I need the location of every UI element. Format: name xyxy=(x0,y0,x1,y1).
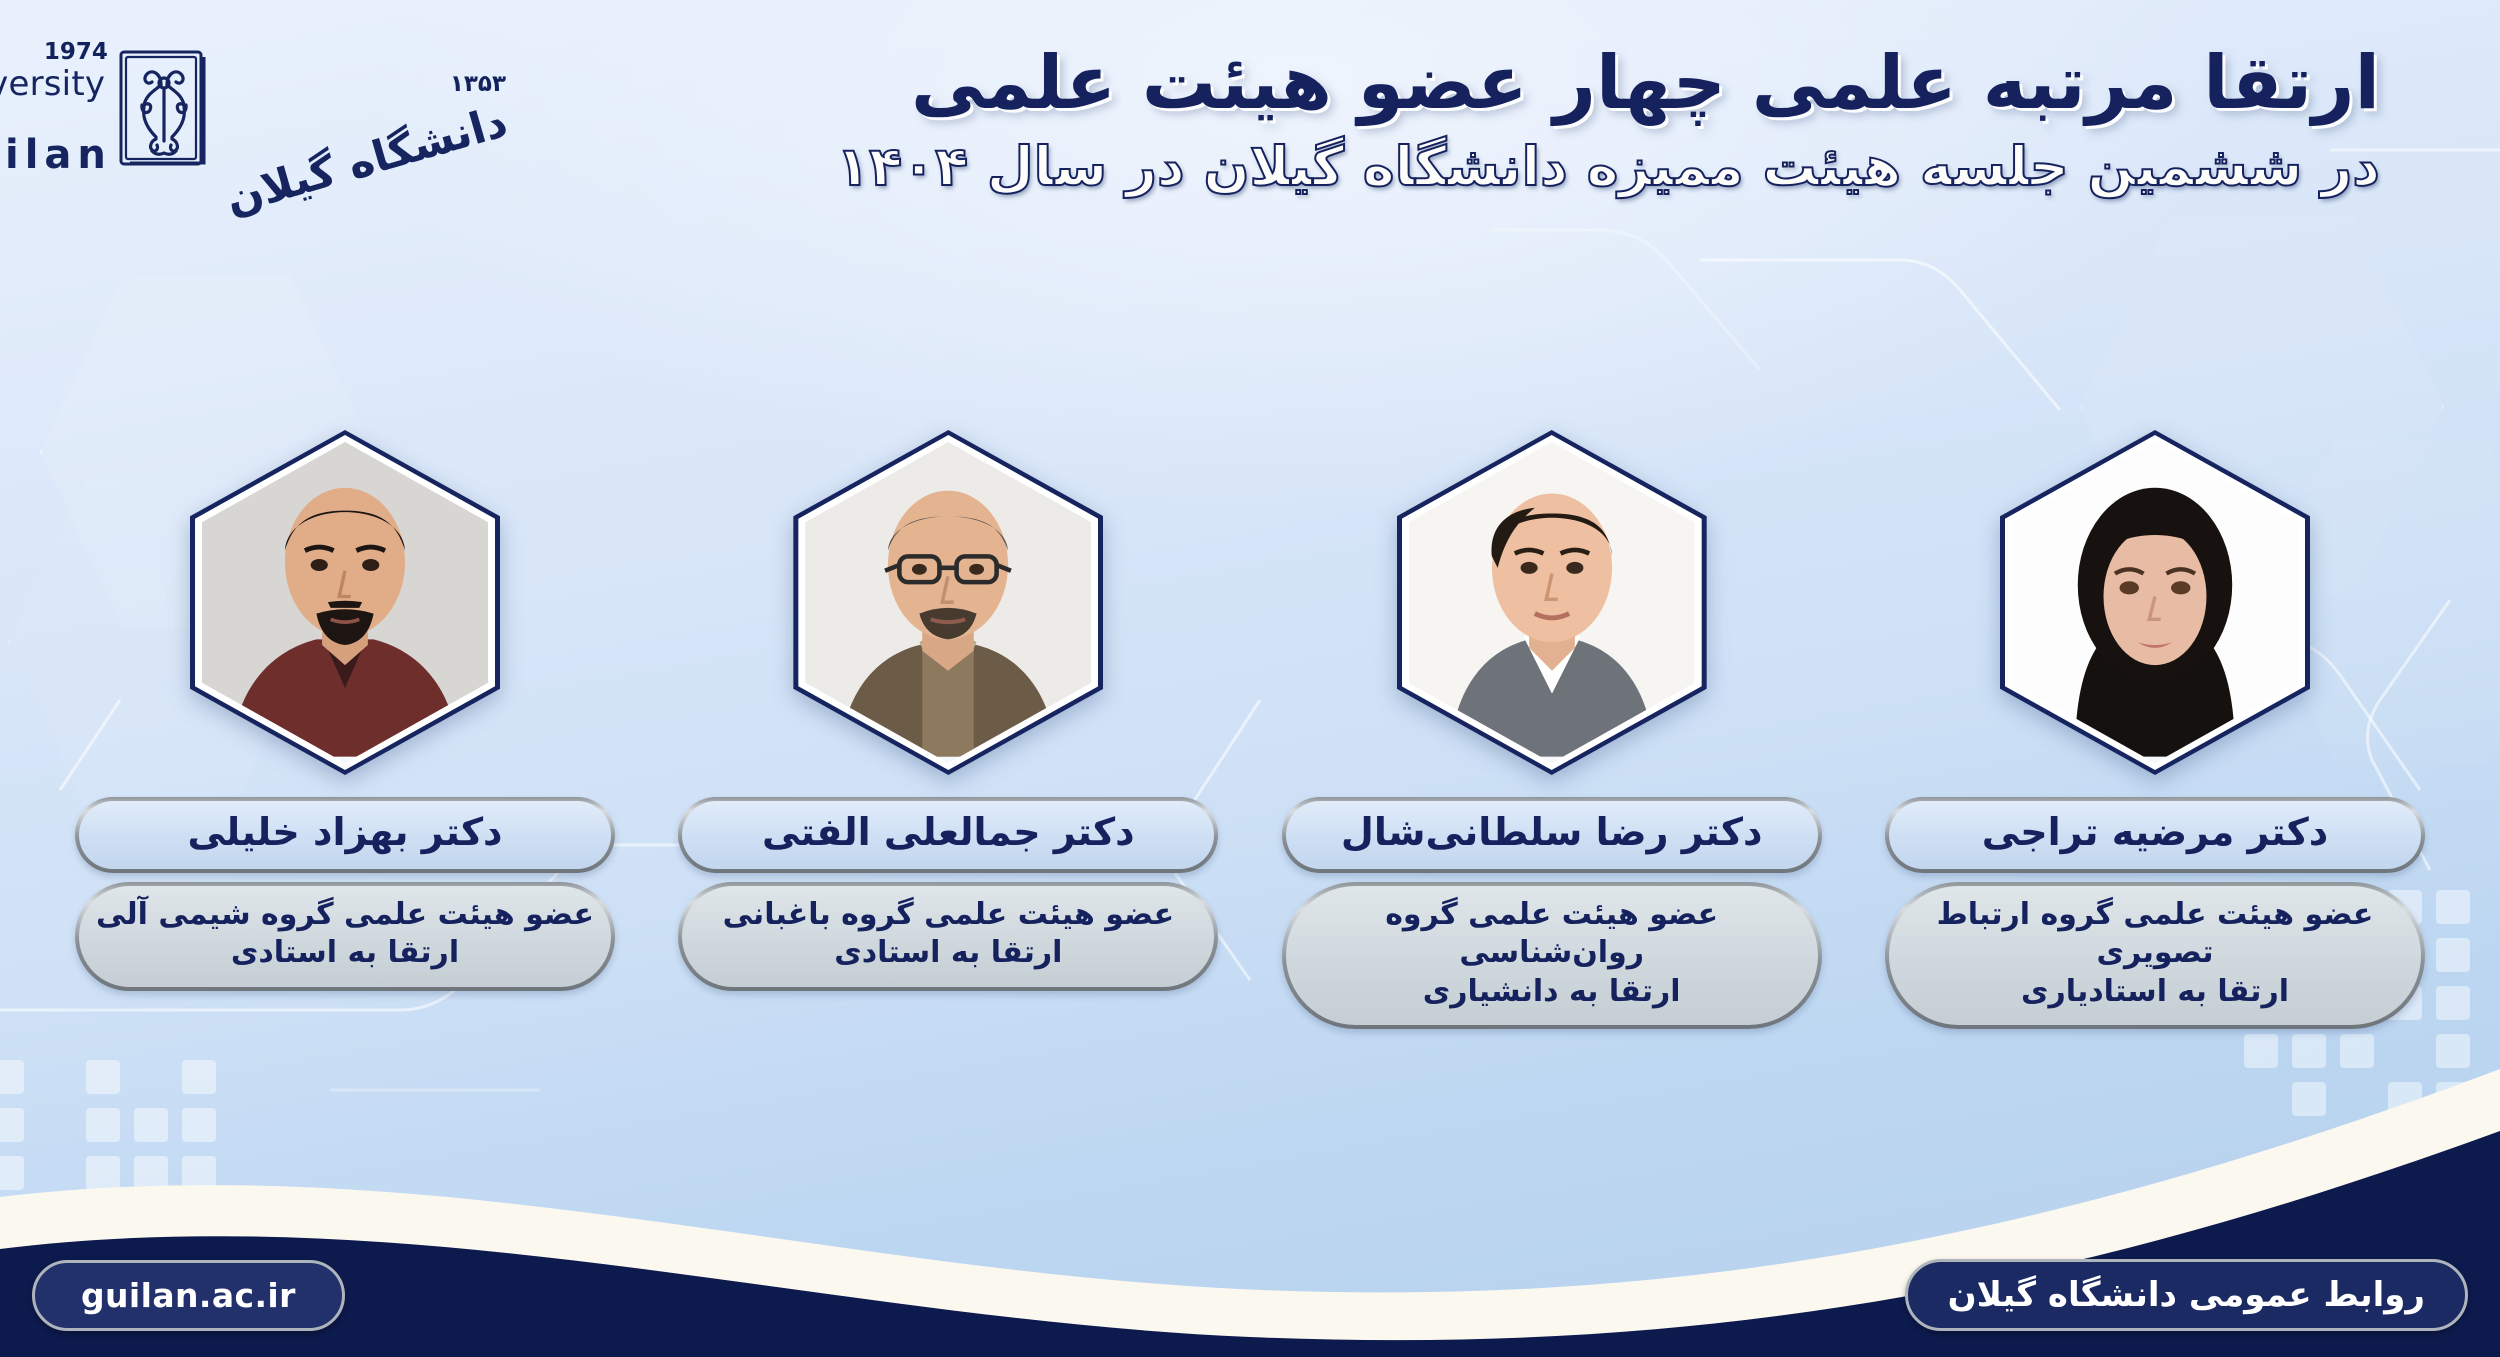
portrait-hexagon-frame xyxy=(793,430,1103,775)
website-badge[interactable]: guilan.ac.ir xyxy=(32,1260,345,1331)
logo-persian-block: ۱۳۵۳ دانشگاه گیلان xyxy=(216,73,506,143)
person-name: دکتر مرضیه تراجی xyxy=(1905,813,2405,853)
page-subtitle: در ششمین جلسه هیئت ممیزه دانشگاه گیلان د… xyxy=(820,133,2380,201)
logo-english-block: 1974 University of Guilan xyxy=(0,41,112,175)
poster-canvas: ۱۳۵۳ دانشگاه گیلان xyxy=(0,0,2500,1357)
university-logo: ۱۳۵۳ دانشگاه گیلان xyxy=(86,28,506,188)
portrait-hexagon-frame xyxy=(2000,430,2310,775)
logo-year-en: 1974 xyxy=(44,41,108,64)
guilan-emblem-icon xyxy=(118,49,210,167)
logo-year-fa: ۱۳۵۳ xyxy=(450,73,506,96)
person-name: دکتر رضا سلطانی‌شال xyxy=(1302,813,1802,853)
person-name: دکتر جمالعلی الفتی xyxy=(698,813,1198,853)
logo-name-fa: دانشگاه گیلان xyxy=(221,101,512,222)
portrait-hexagon-frame xyxy=(1397,430,1707,775)
public-relations-badge[interactable]: روابط عمومی دانشگاه گیلان xyxy=(1905,1259,2468,1331)
header-titles: ارتقا مرتبه علمی چهار عضو هیئت علمی در ش… xyxy=(820,40,2380,201)
person-name-pill: دکتر بهزاد خلیلی xyxy=(75,797,615,873)
person-name-pill: دکتر جمالعلی الفتی xyxy=(678,797,1218,873)
logo-line2-en: Guilan xyxy=(0,135,112,175)
person-name-pill: دکتر مرضیه تراجی xyxy=(1885,797,2425,873)
logo-line1-en: University of xyxy=(0,67,112,135)
public-relations-label: روابط عمومی دانشگاه گیلان xyxy=(1948,1275,2425,1315)
portrait-hexagon-frame xyxy=(190,430,500,775)
person-name: دکتر بهزاد خلیلی xyxy=(95,813,595,853)
website-label: guilan.ac.ir xyxy=(81,1276,296,1315)
person-name-pill: دکتر رضا سلطانی‌شال xyxy=(1282,797,1822,873)
page-title: ارتقا مرتبه علمی چهار عضو هیئت علمی xyxy=(820,40,2380,127)
